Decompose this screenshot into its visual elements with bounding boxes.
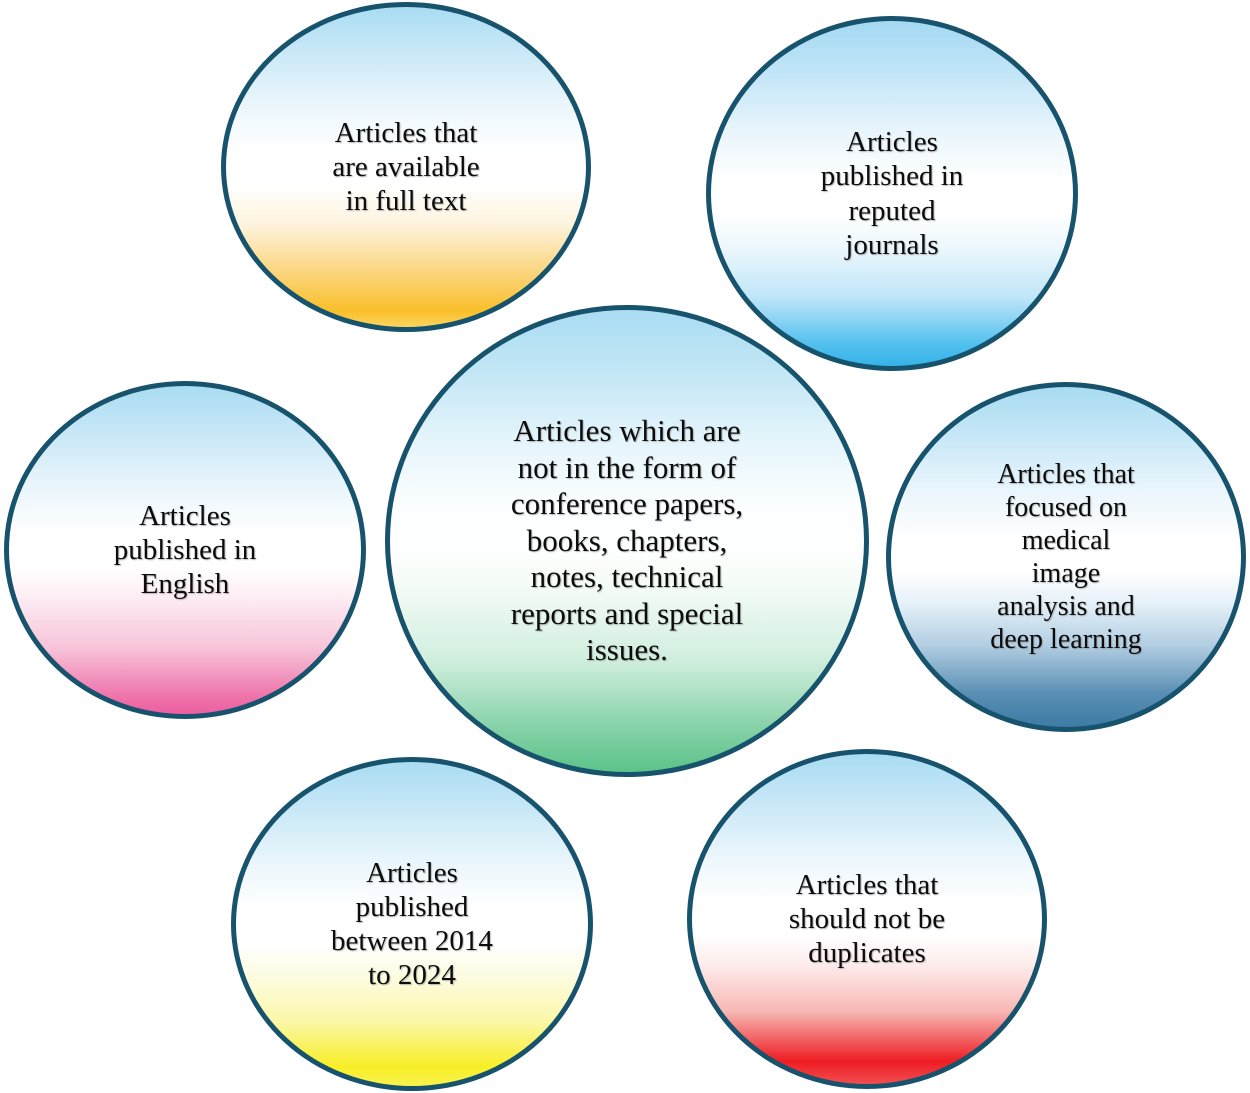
- diagram-canvas: Articles that are available in full text…: [0, 0, 1250, 1093]
- bubble-label-articles-published-2014-2024: Articles published between 2014 to 2024: [275, 856, 550, 993]
- bubble-label-articles-full-text: Articles that are available in full text: [266, 116, 547, 219]
- bubble-label-articles-medical-image-analysis: Articles that focused on medical image a…: [930, 458, 1203, 656]
- bubble-articles-medical-image-analysis[interactable]: Articles that focused on medical image a…: [886, 382, 1246, 732]
- bubble-label-articles-english: Articles published in English: [48, 499, 323, 602]
- bubble-articles-full-text[interactable]: Articles that are available in full text: [221, 2, 591, 332]
- bubble-articles-no-duplicates[interactable]: Articles that should not be duplicates: [687, 749, 1047, 1089]
- bubble-articles-english[interactable]: Articles published in English: [4, 381, 366, 719]
- bubble-articles-not-conference-papers[interactable]: Articles which are not in the form of co…: [385, 305, 869, 777]
- bubble-label-articles-no-duplicates: Articles that should not be duplicates: [731, 868, 1004, 971]
- bubble-label-articles-not-conference-papers: Articles which are not in the form of co…: [442, 413, 812, 669]
- bubble-articles-reputed-journals[interactable]: Articles published in reputed journals: [706, 16, 1078, 371]
- bubble-label-articles-reputed-journals: Articles published in reputed journals: [751, 125, 1033, 262]
- bubble-articles-published-2014-2024[interactable]: Articles published between 2014 to 2024: [231, 757, 593, 1091]
